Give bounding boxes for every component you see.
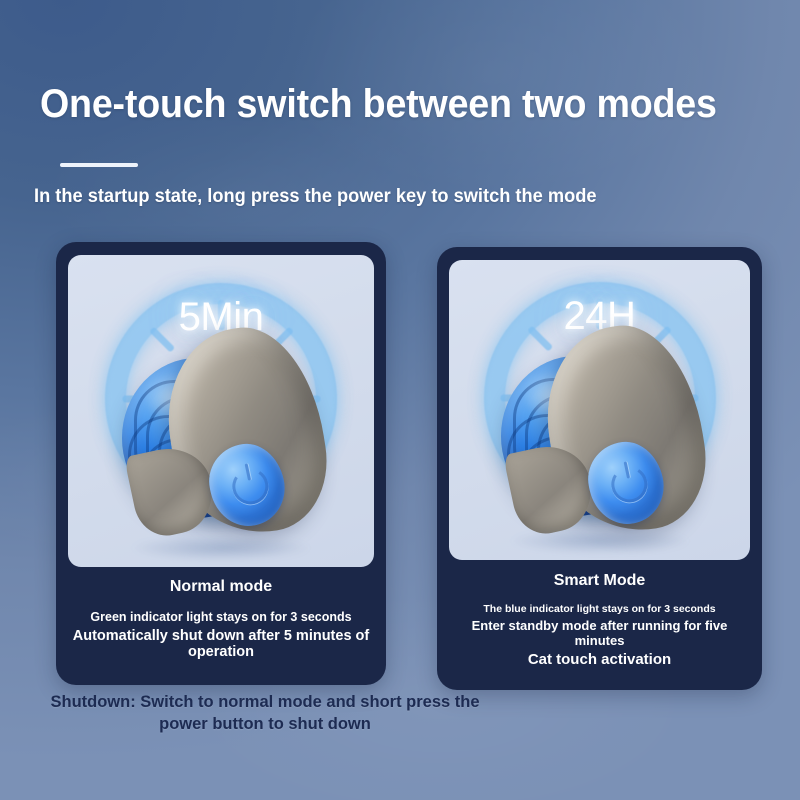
cat-ball-product [118,328,328,538]
page-title: One-touch switch between two modes [40,82,717,127]
shutdown-note: Shutdown: Switch to normal mode and shor… [30,692,500,736]
product-shadow [510,528,690,554]
cat-ball-product [497,326,707,536]
card-line-3: Cat touch activation [445,651,754,668]
card-line-2: Enter standby mode after running for fiv… [445,618,754,648]
product-photo-normal: 5Min [68,255,374,567]
product-photo-smart: 24H [449,260,750,560]
card-description-normal: Green indicator light stays on for 3 sec… [64,610,378,663]
page-subtitle: In the startup state, long press the pow… [34,186,597,208]
card-description-smart: The blue indicator light stays on for 3 … [445,603,754,671]
power-icon [608,463,651,506]
mode-card-normal: 5Min [56,242,386,685]
card-line-1: The blue indicator light stays on for 3 … [445,603,754,615]
product-shadow [131,535,311,561]
power-icon [229,465,272,508]
card-title-smart: Smart Mode [437,572,762,590]
card-title-normal: Normal mode [56,578,386,596]
card-line-2: Automatically shut down after 5 minutes … [64,628,378,662]
accent-underline [60,163,138,167]
mode-card-smart: 24H [437,247,762,690]
product-infographic: One-touch switch between two modes In th… [0,0,800,800]
card-line-1: Green indicator light stays on for 3 sec… [64,610,378,625]
